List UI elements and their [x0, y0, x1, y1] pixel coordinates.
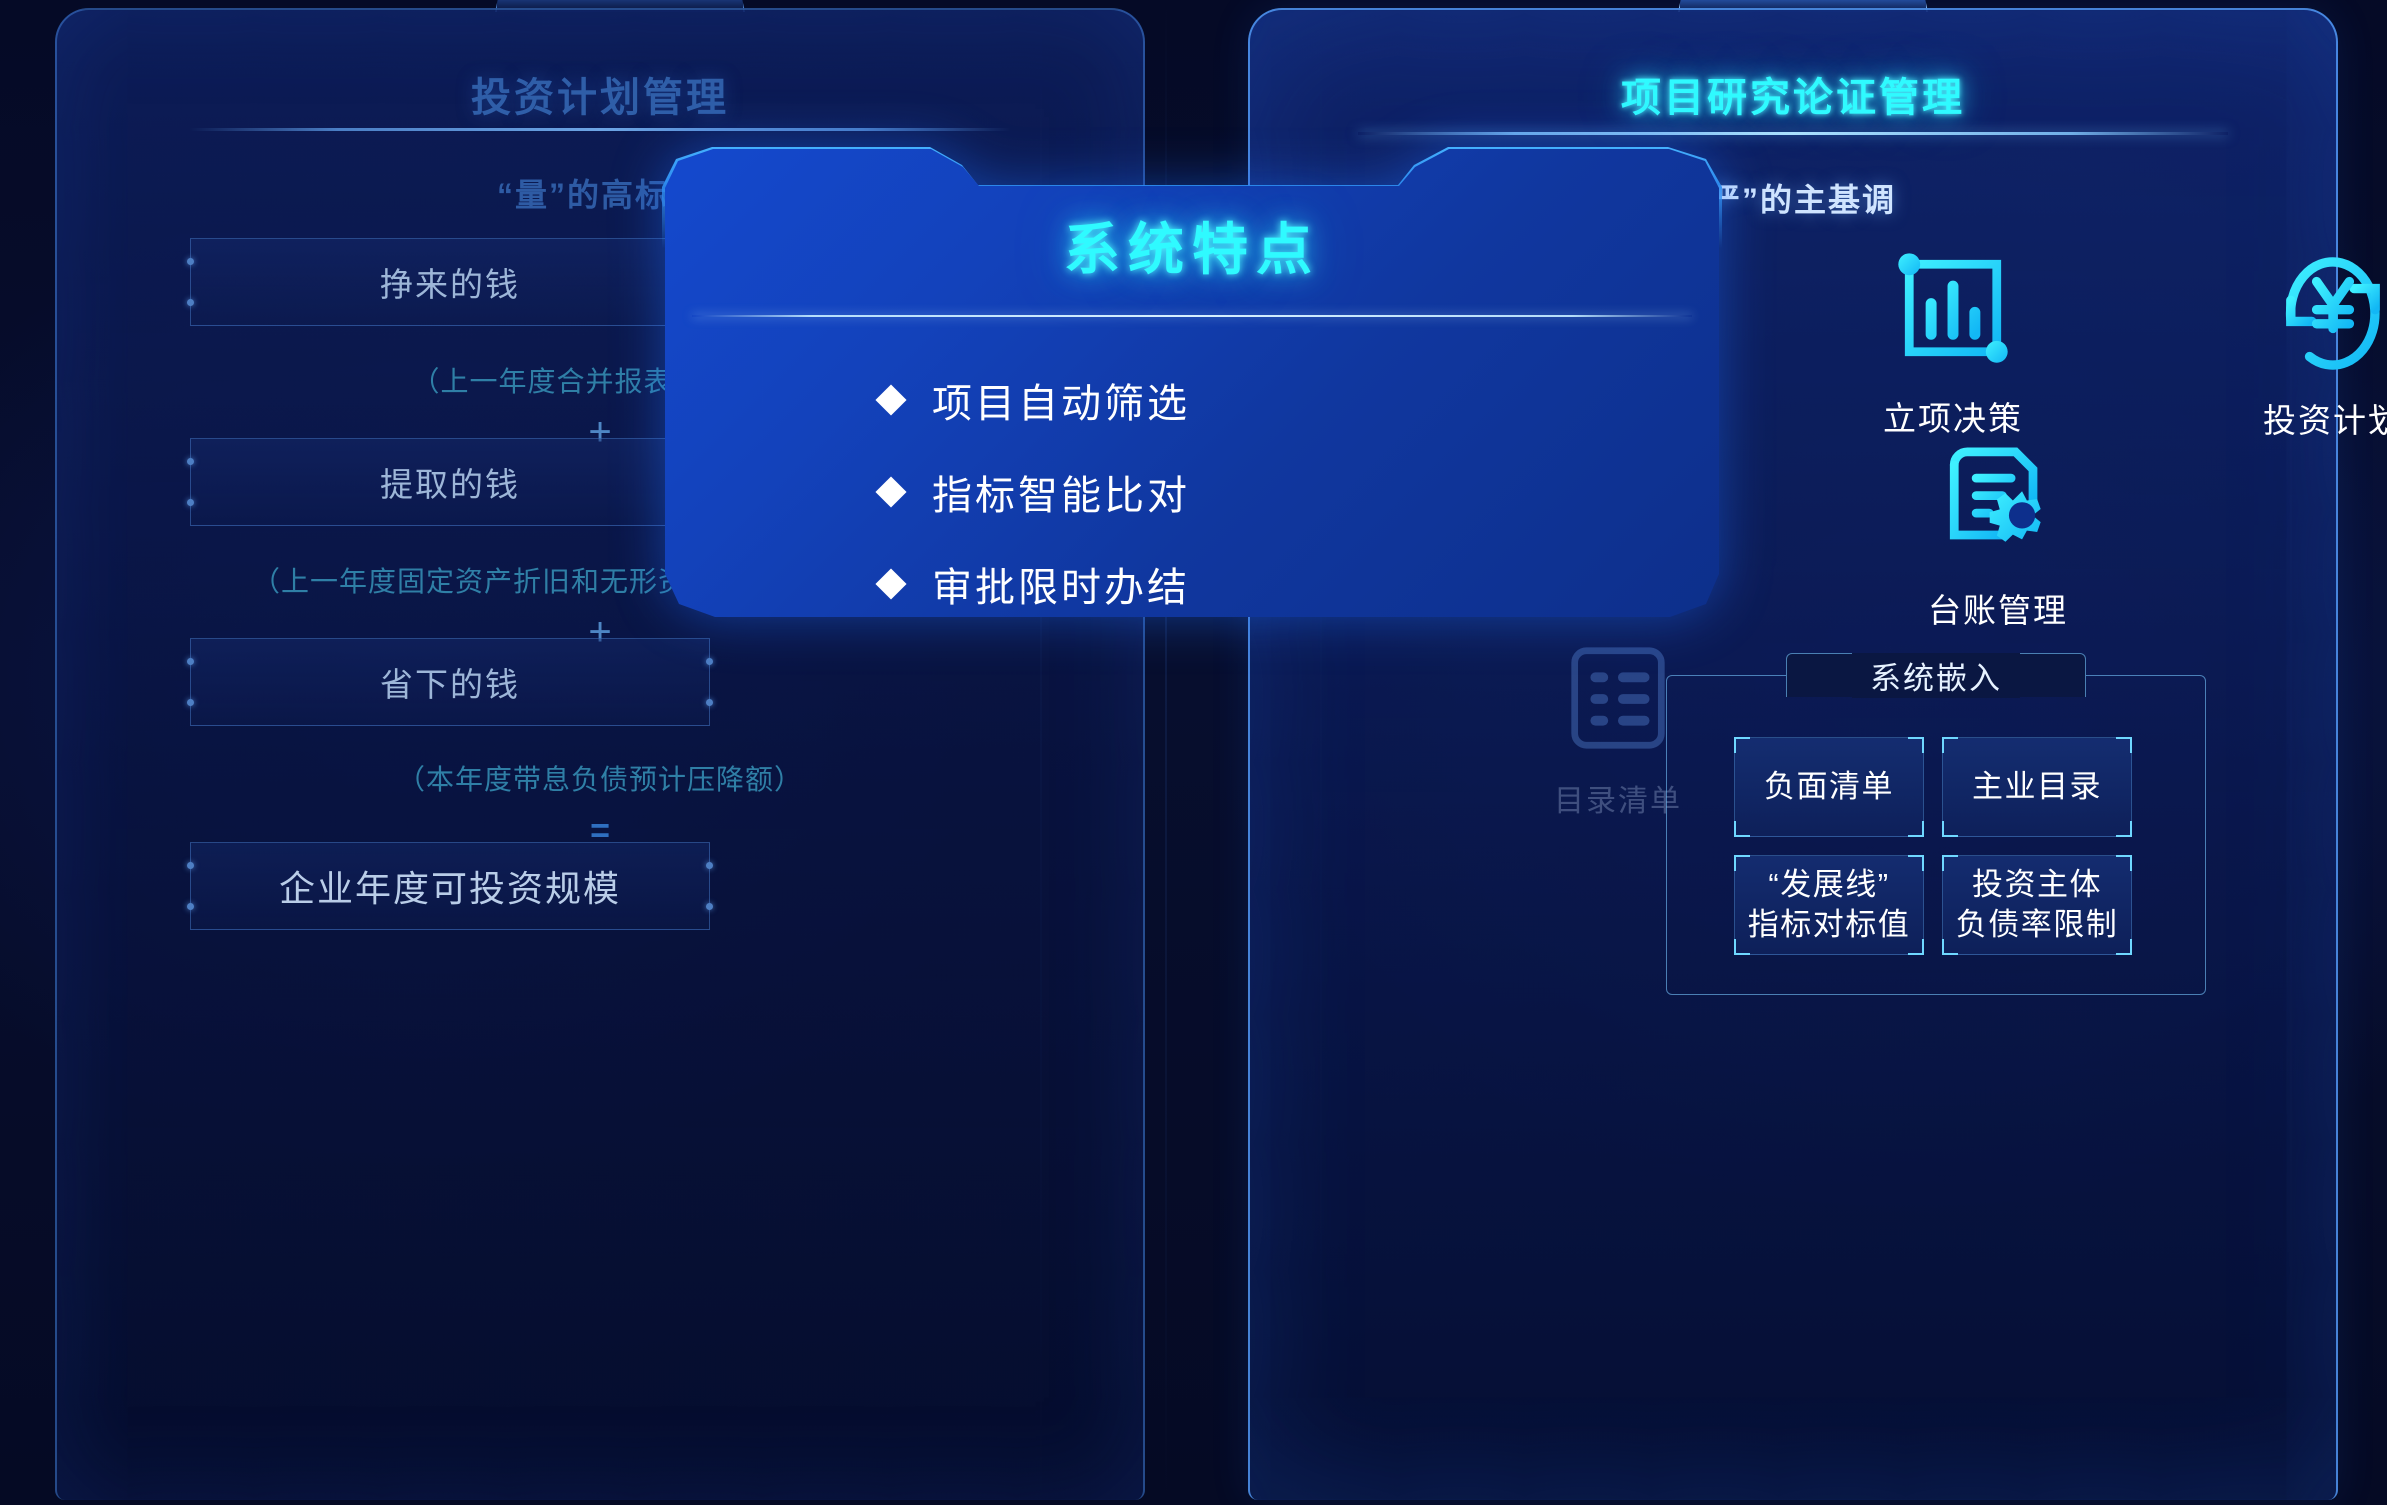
corner-bracket-icon [1908, 855, 1924, 871]
bullet-label: 指标智能比对 [932, 463, 1190, 521]
list-item: 审批限时办结 [880, 555, 1190, 613]
feature-item-project-decision[interactable]: 立项决策 [1813, 238, 2093, 440]
node-dot-icon [187, 458, 194, 465]
node-dot-icon [706, 862, 713, 869]
chip-label: 投资主体 负债率限制 [1956, 865, 2119, 944]
formula-result-label: 企业年度可投资规模 [279, 860, 621, 912]
card-title: 系统特点 [662, 205, 1722, 286]
node-dot-icon [187, 658, 194, 665]
slide-canvas: 投资计划管理 “量”的高标准 挣来的钱 （上一年度合并报表净利润） + 提取的钱… [0, 0, 2387, 1505]
bar-chart-decision-icon [1883, 238, 2023, 378]
feature-item-ledger-management[interactable]: 台账管理 [1858, 430, 2138, 632]
corner-bracket-icon [1942, 821, 1958, 837]
feature-label: 投资计划 [2193, 394, 2387, 442]
title-divider [1358, 132, 2228, 135]
corner-bracket-icon [1734, 855, 1750, 871]
corner-bracket-icon [2116, 939, 2132, 955]
feature-label: 台账管理 [1858, 584, 2138, 632]
formula-box: 提取的钱 [190, 438, 710, 526]
corner-bracket-icon [2116, 855, 2132, 871]
diamond-bullet-icon [875, 384, 906, 415]
corner-bracket-icon [1908, 939, 1924, 955]
corner-bracket-icon [2116, 737, 2132, 753]
page-title: 投资计划管理 [55, 65, 1145, 123]
diamond-bullet-icon [875, 568, 906, 599]
list-item: 项目自动筛选 [880, 371, 1190, 429]
embed-legend-label: 系统嵌入 [1852, 653, 2020, 698]
formula-box-label: 提取的钱 [380, 458, 520, 506]
corner-bracket-icon [1908, 737, 1924, 753]
node-dot-icon [187, 862, 194, 869]
formula-box: 挣来的钱 [190, 238, 710, 326]
embed-chip-negative-list[interactable]: 负面清单 [1734, 737, 1924, 837]
corner-bracket-icon [1908, 821, 1924, 837]
system-features-card: 系统特点 项目自动筛选 指标智能比对 审批限时办结 [662, 143, 1722, 623]
diamond-bullet-icon [875, 476, 906, 507]
yuan-cycle-icon [2258, 230, 2387, 380]
node-dot-icon [187, 499, 194, 506]
bullet-label: 项目自动筛选 [932, 371, 1190, 429]
node-dot-icon [187, 299, 194, 306]
embed-chip-main-business-catalog[interactable]: 主业目录 [1942, 737, 2132, 837]
chip-label: 负面清单 [1764, 767, 1894, 807]
title-divider [190, 128, 1010, 131]
feature-item-investment-plan[interactable]: 投资计划 [2193, 230, 2387, 442]
feature-bullet-list: 项目自动筛选 指标智能比对 审批限时办结 [880, 371, 1190, 647]
corner-bracket-icon [1734, 821, 1750, 837]
embed-chip-investor-debt-limit[interactable]: 投资主体 负债率限制 [1942, 855, 2132, 955]
page-title: 项目研究论证管理 [1248, 65, 2338, 123]
node-dot-icon [706, 658, 713, 665]
corner-bracket-icon [1942, 939, 1958, 955]
formula-note: （本年度带息负债预计压降额） [55, 758, 1145, 798]
corner-bracket-icon [2116, 821, 2132, 837]
node-dot-icon [187, 699, 194, 706]
checklist-icon [1555, 635, 1681, 761]
formula-box: 省下的钱 [190, 638, 710, 726]
chip-label: “发展线” 指标对标值 [1748, 865, 1911, 944]
node-dot-icon [187, 258, 194, 265]
corner-bracket-icon [1942, 855, 1958, 871]
formula-box-label: 挣来的钱 [380, 258, 520, 306]
corner-bracket-icon [1734, 939, 1750, 955]
card-divider [692, 315, 1692, 317]
corner-bracket-icon [1734, 737, 1750, 753]
system-embed-group: 系统嵌入 负面清单 主业目录 “发展线” 指标对标值 [1666, 675, 2206, 995]
embed-chip-development-line[interactable]: “发展线” 指标对标值 [1734, 855, 1924, 955]
formula-result-box: 企业年度可投资规模 [190, 842, 710, 930]
node-dot-icon [187, 903, 194, 910]
corner-bracket-icon [1942, 737, 1958, 753]
chip-label: 主业目录 [1972, 767, 2102, 807]
bullet-label: 审批限时办结 [932, 555, 1190, 613]
formula-box-label: 省下的钱 [380, 658, 520, 706]
document-gear-icon [1928, 430, 2068, 570]
list-item: 指标智能比对 [880, 463, 1190, 521]
